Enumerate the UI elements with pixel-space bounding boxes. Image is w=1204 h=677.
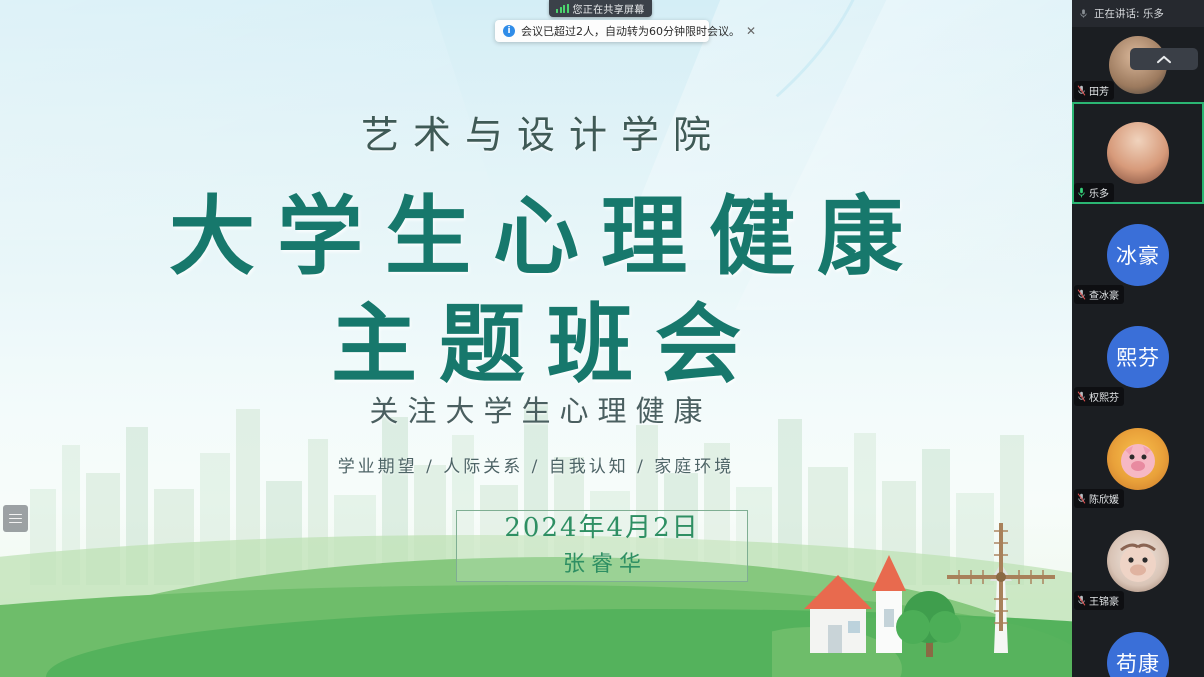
participant-name: 陈欣媛 — [1089, 491, 1119, 506]
participant-name-badge: 陈欣媛 — [1074, 489, 1124, 508]
avatar — [1107, 530, 1169, 592]
participant-sidebar: 正在讲话: 乐多 田芳 乐多 — [1072, 0, 1204, 677]
participant-tile[interactable]: 乐多 — [1072, 102, 1204, 204]
active-speaker-label: 正在讲话: 乐多 — [1094, 6, 1164, 21]
slide-title-line-2: 主题班会 — [0, 274, 1072, 399]
cartoon-avatar-icon — [1107, 530, 1169, 592]
participant-name-badge: 乐多 — [1074, 183, 1114, 202]
avatar: 苟康 — [1107, 632, 1169, 677]
active-speaker-bar: 正在讲话: 乐多 — [1072, 0, 1204, 27]
participant-name-badge: 查冰豪 — [1074, 285, 1124, 304]
participant-name: 田芳 — [1089, 83, 1109, 98]
slide-date-box: 2024年4月2日 张睿华 — [456, 510, 748, 582]
meeting-limit-toast: i 会议已超过2人，自动转为60分钟限时会议。 ✕ — [495, 20, 709, 42]
participant-name: 乐多 — [1089, 185, 1109, 200]
avatar: 冰豪 — [1107, 224, 1169, 286]
participant-name-badge: 王锦豪 — [1074, 591, 1124, 610]
slide-title-line-1: 大学生心理健康 — [0, 166, 1072, 291]
participant-name: 王锦豪 — [1089, 593, 1119, 608]
avatar — [1107, 428, 1169, 490]
muted-mic-icon — [1077, 391, 1086, 402]
participant-tile[interactable]: 陈欣媛 — [1072, 408, 1204, 510]
close-icon[interactable]: ✕ — [746, 25, 756, 37]
participant-name: 查冰豪 — [1089, 287, 1119, 302]
screen-share-label: 您正在共享屏幕 — [573, 1, 645, 16]
participant-tile[interactable]: 熙芬 权熙芬 — [1072, 306, 1204, 408]
slide-school-name: 艺术与设计学院 — [0, 104, 1072, 159]
muted-mic-icon — [1077, 595, 1086, 606]
slide-keywords: 学业期望 / 人际关系 / 自我认知 / 家庭环境 — [0, 452, 1072, 477]
screen-share-indicator[interactable]: 您正在共享屏幕 — [549, 0, 652, 17]
participant-name-badge: 权熙芬 — [1074, 387, 1124, 406]
shared-screen-stage: 艺术与设计学院 大学生心理健康 主题班会 关注大学生心理健康 学业期望 / 人际… — [0, 0, 1072, 677]
chevron-up-icon — [1156, 55, 1172, 64]
slide-presenter: 张睿华 — [557, 546, 647, 578]
list-panel-icon — [9, 511, 22, 526]
participant-tile[interactable]: 冰豪 查冰豪 — [1072, 204, 1204, 306]
muted-mic-icon — [1077, 289, 1086, 300]
toast-message: 会议已超过2人，自动转为60分钟限时会议。 — [521, 23, 740, 39]
microphone-icon — [1078, 8, 1089, 19]
slide-text-layer: 艺术与设计学院 大学生心理健康 主题班会 关注大学生心理健康 学业期望 / 人际… — [0, 0, 1072, 677]
participant-tile[interactable]: 苟康 — [1072, 612, 1204, 677]
slide-subtitle: 关注大学生心理健康 — [0, 388, 1072, 430]
cartoon-avatar-icon — [1107, 428, 1169, 490]
avatar-initials: 熙芬 — [1116, 342, 1160, 372]
muted-mic-icon — [1077, 85, 1086, 96]
participant-tile[interactable]: 王锦豪 — [1072, 510, 1204, 612]
signal-bars-icon — [556, 4, 569, 13]
participant-name: 权熙芬 — [1089, 389, 1119, 404]
active-mic-icon — [1077, 187, 1086, 198]
avatar — [1107, 122, 1169, 184]
left-panel-toggle-button[interactable] — [3, 505, 28, 532]
muted-mic-icon — [1077, 493, 1086, 504]
collapse-sidebar-button[interactable] — [1130, 48, 1198, 70]
avatar-initials: 苟康 — [1116, 648, 1160, 677]
avatar: 熙芬 — [1107, 326, 1169, 388]
participant-name-badge: 田芳 — [1074, 81, 1114, 100]
slide-date: 2024年4月2日 — [504, 514, 699, 543]
info-icon: i — [503, 25, 515, 37]
avatar-initials: 冰豪 — [1116, 240, 1160, 270]
